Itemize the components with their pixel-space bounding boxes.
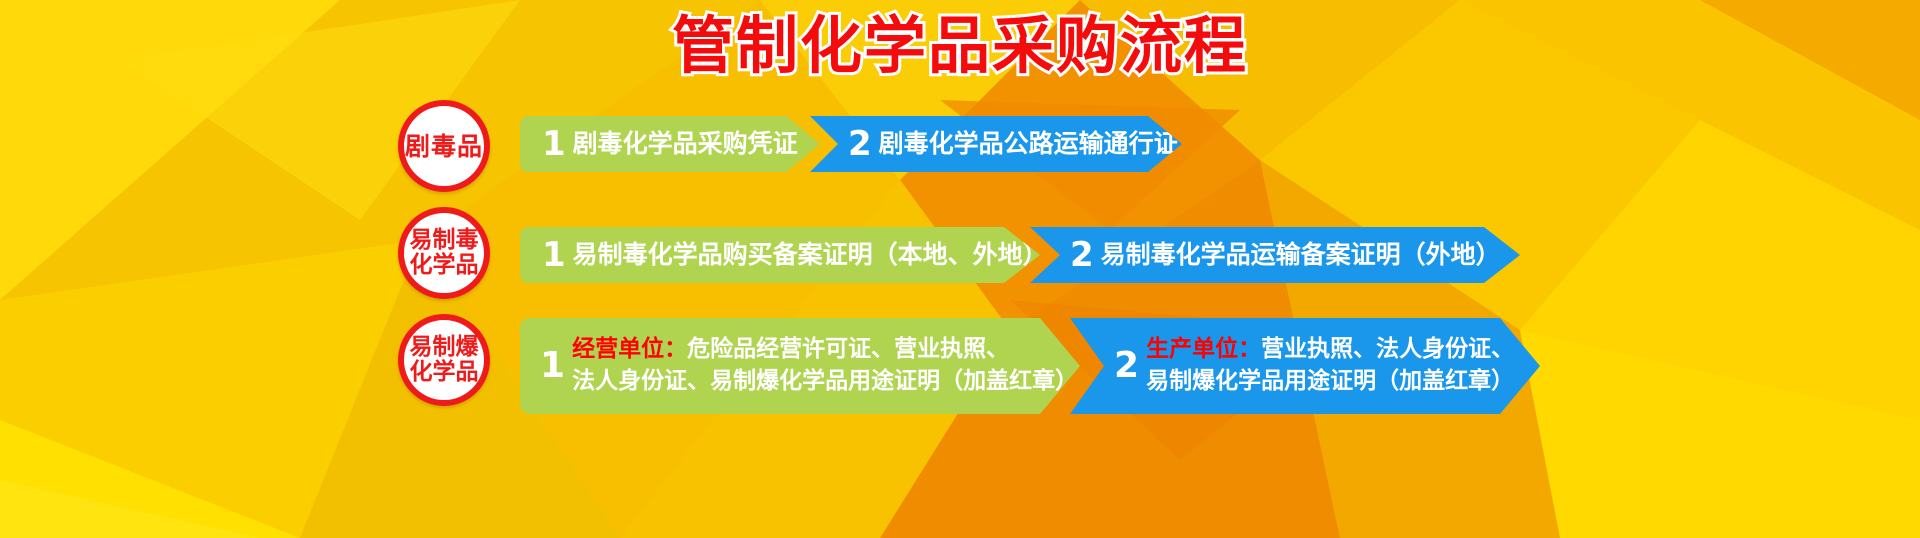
badge-toxic-line-1: 剧毒品: [405, 133, 483, 160]
step-toxic-1[interactable]: 1 剧毒化学品采购凭证: [520, 116, 820, 172]
chemical-procurement-banner: 管制化学品采购流程 剧毒品 1 剧毒化学品采购凭证 2 剧毒化学品公路运输通行证…: [0, 0, 1920, 538]
step-toxic-2[interactable]: 2 剧毒化学品公路运输通行证: [810, 116, 1182, 172]
page-title-wrap: 管制化学品采购流程: [0, 6, 1920, 86]
step-label: 生产单位：营业执照、法人身份证、 易制爆化学品用途证明（加盖红章）: [1146, 334, 1514, 397]
badge-toxic: 剧毒品: [398, 100, 490, 192]
step-precursor-1[interactable]: 1 易制毒化学品购买备案证明（本地、外地）: [520, 227, 1040, 283]
step-label: 经营单位：危险品经营许可证、营业执照、 法人身份证、易制爆化学品用途证明（加盖红…: [572, 334, 1078, 397]
step-label-prefix: 经营单位：: [572, 336, 687, 362]
page-title: 管制化学品采购流程: [672, 6, 1248, 86]
step-explosive-1[interactable]: 1 经营单位：危险品经营许可证、营业执照、 法人身份证、易制爆化学品用途证明（加…: [520, 318, 1080, 414]
step-label-line-1: 危险品经营许可证、营业执照、: [687, 336, 1009, 362]
flow-row-precursor: 易制毒 化学品 1 易制毒化学品购买备案证明（本地、外地） 2 易制毒化学品运输…: [0, 205, 1920, 301]
badge-precursor: 易制毒 化学品: [398, 207, 490, 299]
step-label: 易制毒化学品购买备案证明（本地、外地）: [573, 239, 1040, 271]
flow-row-explosive: 易制爆 化学品 1 经营单位：危险品经营许可证、营业执照、 法人身份证、易制爆化…: [0, 300, 1920, 420]
badge-explosive-line-2: 化学品: [410, 360, 479, 385]
step-number: 1: [540, 348, 565, 384]
step-number: 2: [1114, 348, 1139, 384]
step-precursor-2[interactable]: 2 易制毒化学品运输备案证明（外地）: [1030, 227, 1520, 283]
badge-explosive: 易制爆 化学品: [398, 314, 490, 406]
step-explosive-2[interactable]: 2 生产单位：营业执照、法人身份证、 易制爆化学品用途证明（加盖红章）: [1070, 318, 1540, 414]
flow-row-toxic: 剧毒品 1 剧毒化学品采购凭证 2 剧毒化学品公路运输通行证: [0, 98, 1920, 194]
step-number: 2: [848, 127, 872, 161]
step-number: 2: [1070, 238, 1094, 272]
badge-precursor-line-1: 易制毒: [410, 228, 479, 253]
step-number: 1: [542, 127, 566, 161]
step-label: 易制毒化学品运输备案证明（外地）: [1101, 239, 1501, 271]
badge-precursor-line-2: 化学品: [410, 253, 479, 278]
step-label-line-1: 营业执照、法人身份证、: [1261, 336, 1514, 362]
step-label: 剧毒化学品采购凭证: [573, 128, 798, 160]
step-label: 剧毒化学品公路运输通行证: [879, 128, 1179, 160]
badge-explosive-line-1: 易制爆: [410, 335, 479, 360]
step-label-line-2: 易制爆化学品用途证明（加盖红章）: [1146, 368, 1514, 394]
step-label-line-2: 法人身份证、易制爆化学品用途证明（加盖红章）: [572, 368, 1078, 394]
step-label-prefix: 生产单位：: [1146, 336, 1261, 362]
step-number: 1: [542, 238, 566, 272]
